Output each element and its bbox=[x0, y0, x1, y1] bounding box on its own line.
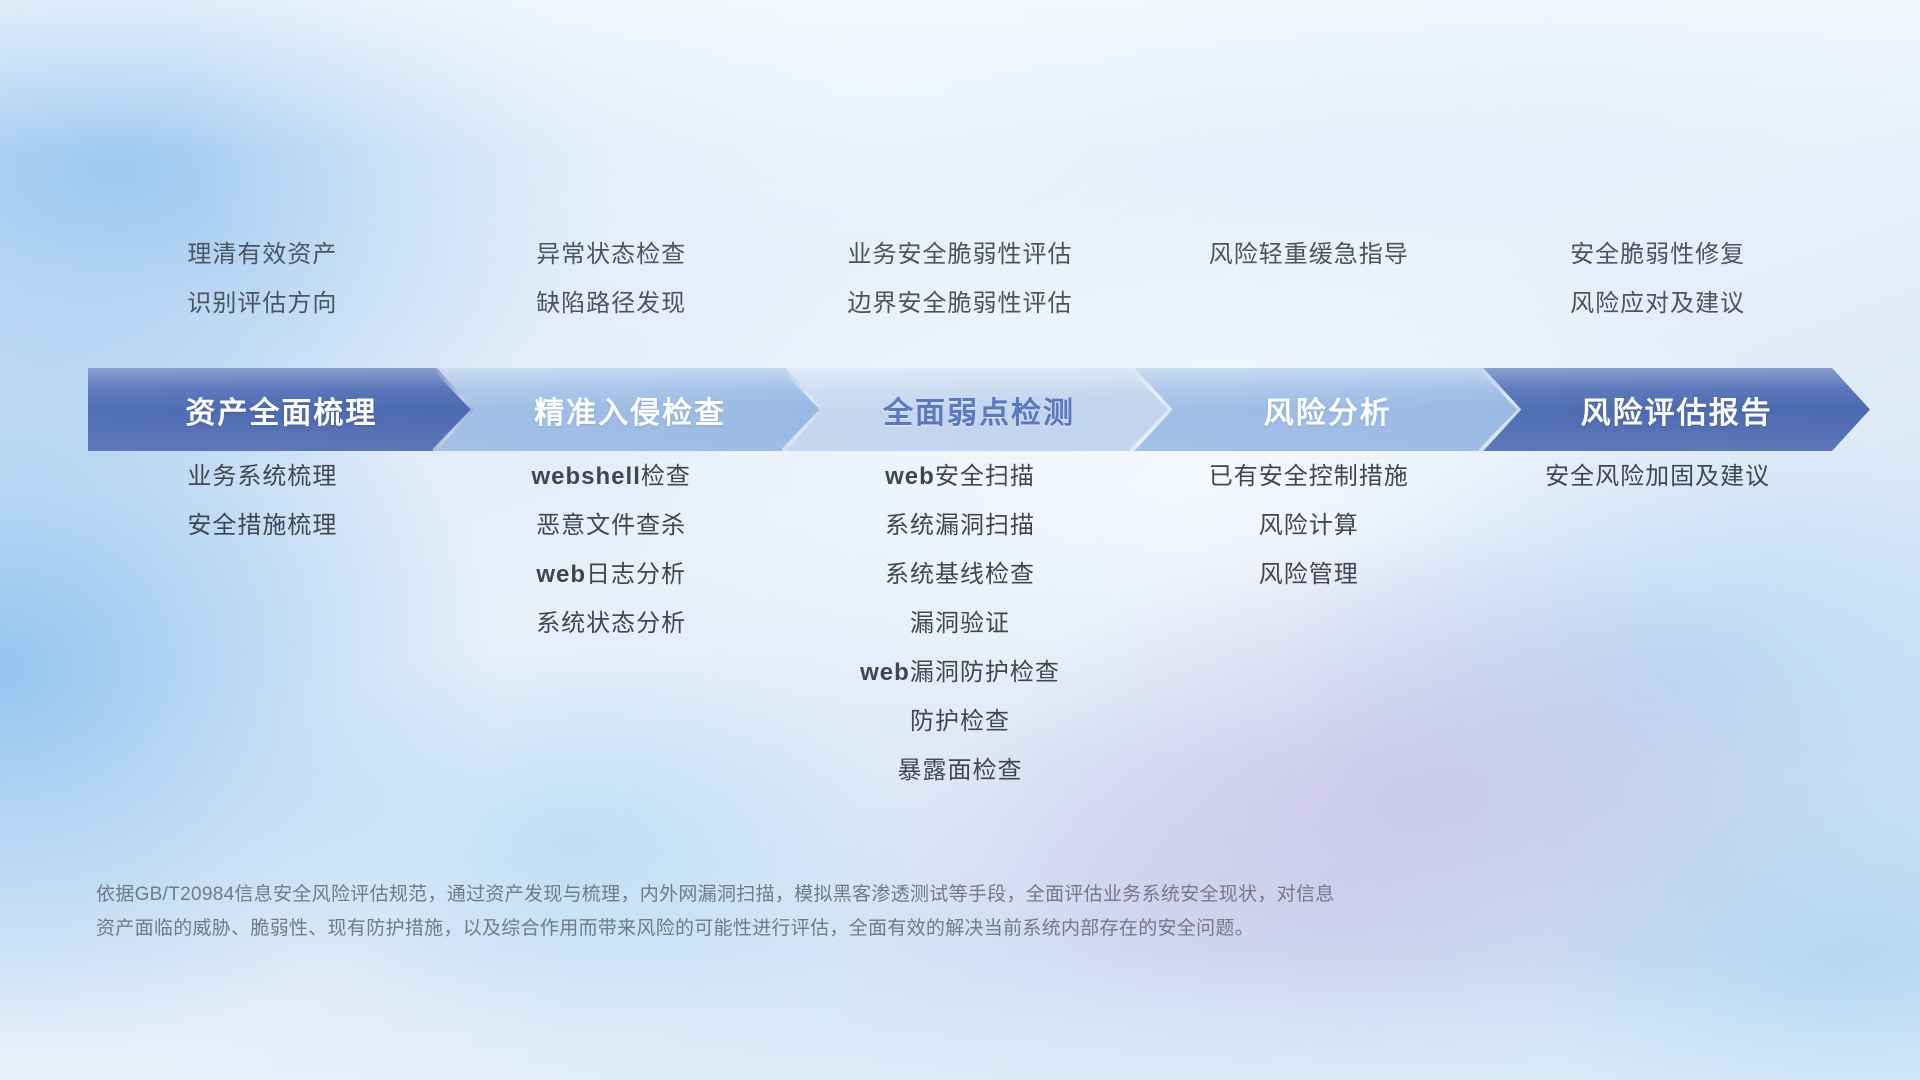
bottom-label-item: 风险计算 bbox=[1259, 501, 1359, 550]
top-label-item: 安全脆弱性修复 bbox=[1570, 230, 1745, 279]
bottom-label-item: 恶意文件查杀 bbox=[536, 501, 686, 550]
stage-chevron-band: 资产全面梳理精准入侵检查全面弱点检测风险分析风险评估报告 bbox=[88, 368, 1832, 451]
bottom-label-column-2: webshell检查恶意文件查杀web日志分析系统状态分析 bbox=[437, 452, 786, 795]
stage-chevron-2[interactable]: 精准入侵检查 bbox=[437, 368, 824, 451]
top-label-column-4: 风险轻重缓急指导 bbox=[1134, 230, 1483, 328]
top-label-column-2: 异常状态检查缺陷路径发现 bbox=[437, 230, 786, 328]
stage-label: 风险评估报告 bbox=[1581, 388, 1773, 432]
bottom-label-item: 业务系统梳理 bbox=[187, 452, 337, 501]
top-label-item: 理清有效资产 bbox=[187, 230, 337, 279]
bottom-label-item: 安全风险加固及建议 bbox=[1545, 452, 1770, 501]
bottom-label-item: 系统漏洞扫描 bbox=[885, 501, 1035, 550]
bottom-label-item: 防护检查 bbox=[910, 697, 1010, 746]
top-label-item: 异常状态检查 bbox=[536, 230, 686, 279]
bottom-label-item: 漏洞验证 bbox=[910, 599, 1010, 648]
top-label-item: 业务安全脆弱性评估 bbox=[847, 230, 1072, 279]
bottom-label-column-3: web安全扫描系统漏洞扫描系统基线检查漏洞验证web漏洞防护检查防护检查暴露面检… bbox=[786, 452, 1135, 795]
bottom-label-item: web日志分析 bbox=[536, 550, 686, 599]
bottom-label-item: web漏洞防护检查 bbox=[860, 648, 1060, 697]
footer-line-1: 依据GB/T20984信息安全风险评估规范，通过资产发现与梳理，内外网漏洞扫描，… bbox=[96, 878, 1636, 912]
stage-label: 风险分析 bbox=[1264, 388, 1392, 432]
process-flow-diagram: 理清有效资产识别评估方向异常状态检查缺陷路径发现业务安全脆弱性评估边界安全脆弱性… bbox=[0, 0, 1920, 1080]
bottom-labels-row: 业务系统梳理安全措施梳理webshell检查恶意文件查杀web日志分析系统状态分… bbox=[88, 452, 1832, 795]
bottom-label-item: web安全扫描 bbox=[885, 452, 1035, 501]
bottom-label-item: 暴露面检查 bbox=[897, 746, 1022, 795]
bottom-label-item: 系统状态分析 bbox=[536, 599, 686, 648]
bottom-label-item: 安全措施梳理 bbox=[187, 501, 337, 550]
footer-description: 依据GB/T20984信息安全风险评估规范，通过资产发现与梳理，内外网漏洞扫描，… bbox=[96, 878, 1636, 946]
stage-label: 精准入侵检查 bbox=[534, 388, 726, 432]
footer-line-2: 资产面临的威胁、脆弱性、现有防护措施，以及综合作用而带来风险的可能性进行评估，全… bbox=[96, 912, 1636, 946]
top-label-column-3: 业务安全脆弱性评估边界安全脆弱性评估 bbox=[786, 230, 1135, 328]
bottom-label-item: 已有安全控制措施 bbox=[1209, 452, 1409, 501]
top-label-column-5: 安全脆弱性修复风险应对及建议 bbox=[1483, 230, 1832, 328]
stage-chevron-4[interactable]: 风险分析 bbox=[1134, 368, 1521, 451]
top-label-item: 识别评估方向 bbox=[187, 279, 337, 328]
bottom-label-column-4: 已有安全控制措施风险计算风险管理 bbox=[1134, 452, 1483, 795]
top-label-item: 边界安全脆弱性评估 bbox=[847, 279, 1072, 328]
bottom-label-item: 系统基线检查 bbox=[885, 550, 1035, 599]
stage-chevron-3[interactable]: 全面弱点检测 bbox=[786, 368, 1173, 451]
bottom-label-item: webshell检查 bbox=[532, 452, 691, 501]
top-label-item: 风险轻重缓急指导 bbox=[1209, 230, 1409, 279]
bottom-label-item: 风险管理 bbox=[1259, 550, 1359, 599]
top-label-item: 风险应对及建议 bbox=[1570, 279, 1745, 328]
top-label-item: 缺陷路径发现 bbox=[536, 279, 686, 328]
top-label-column-1: 理清有效资产识别评估方向 bbox=[88, 230, 437, 328]
bottom-label-column-5: 安全风险加固及建议 bbox=[1483, 452, 1832, 795]
stage-label: 全面弱点检测 bbox=[883, 388, 1075, 432]
top-labels-row: 理清有效资产识别评估方向异常状态检查缺陷路径发现业务安全脆弱性评估边界安全脆弱性… bbox=[88, 230, 1832, 328]
bottom-label-column-1: 业务系统梳理安全措施梳理 bbox=[88, 452, 437, 795]
stage-chevron-1[interactable]: 资产全面梳理 bbox=[88, 368, 475, 451]
stage-chevron-5[interactable]: 风险评估报告 bbox=[1483, 368, 1870, 451]
stage-label: 资产全面梳理 bbox=[185, 388, 377, 432]
